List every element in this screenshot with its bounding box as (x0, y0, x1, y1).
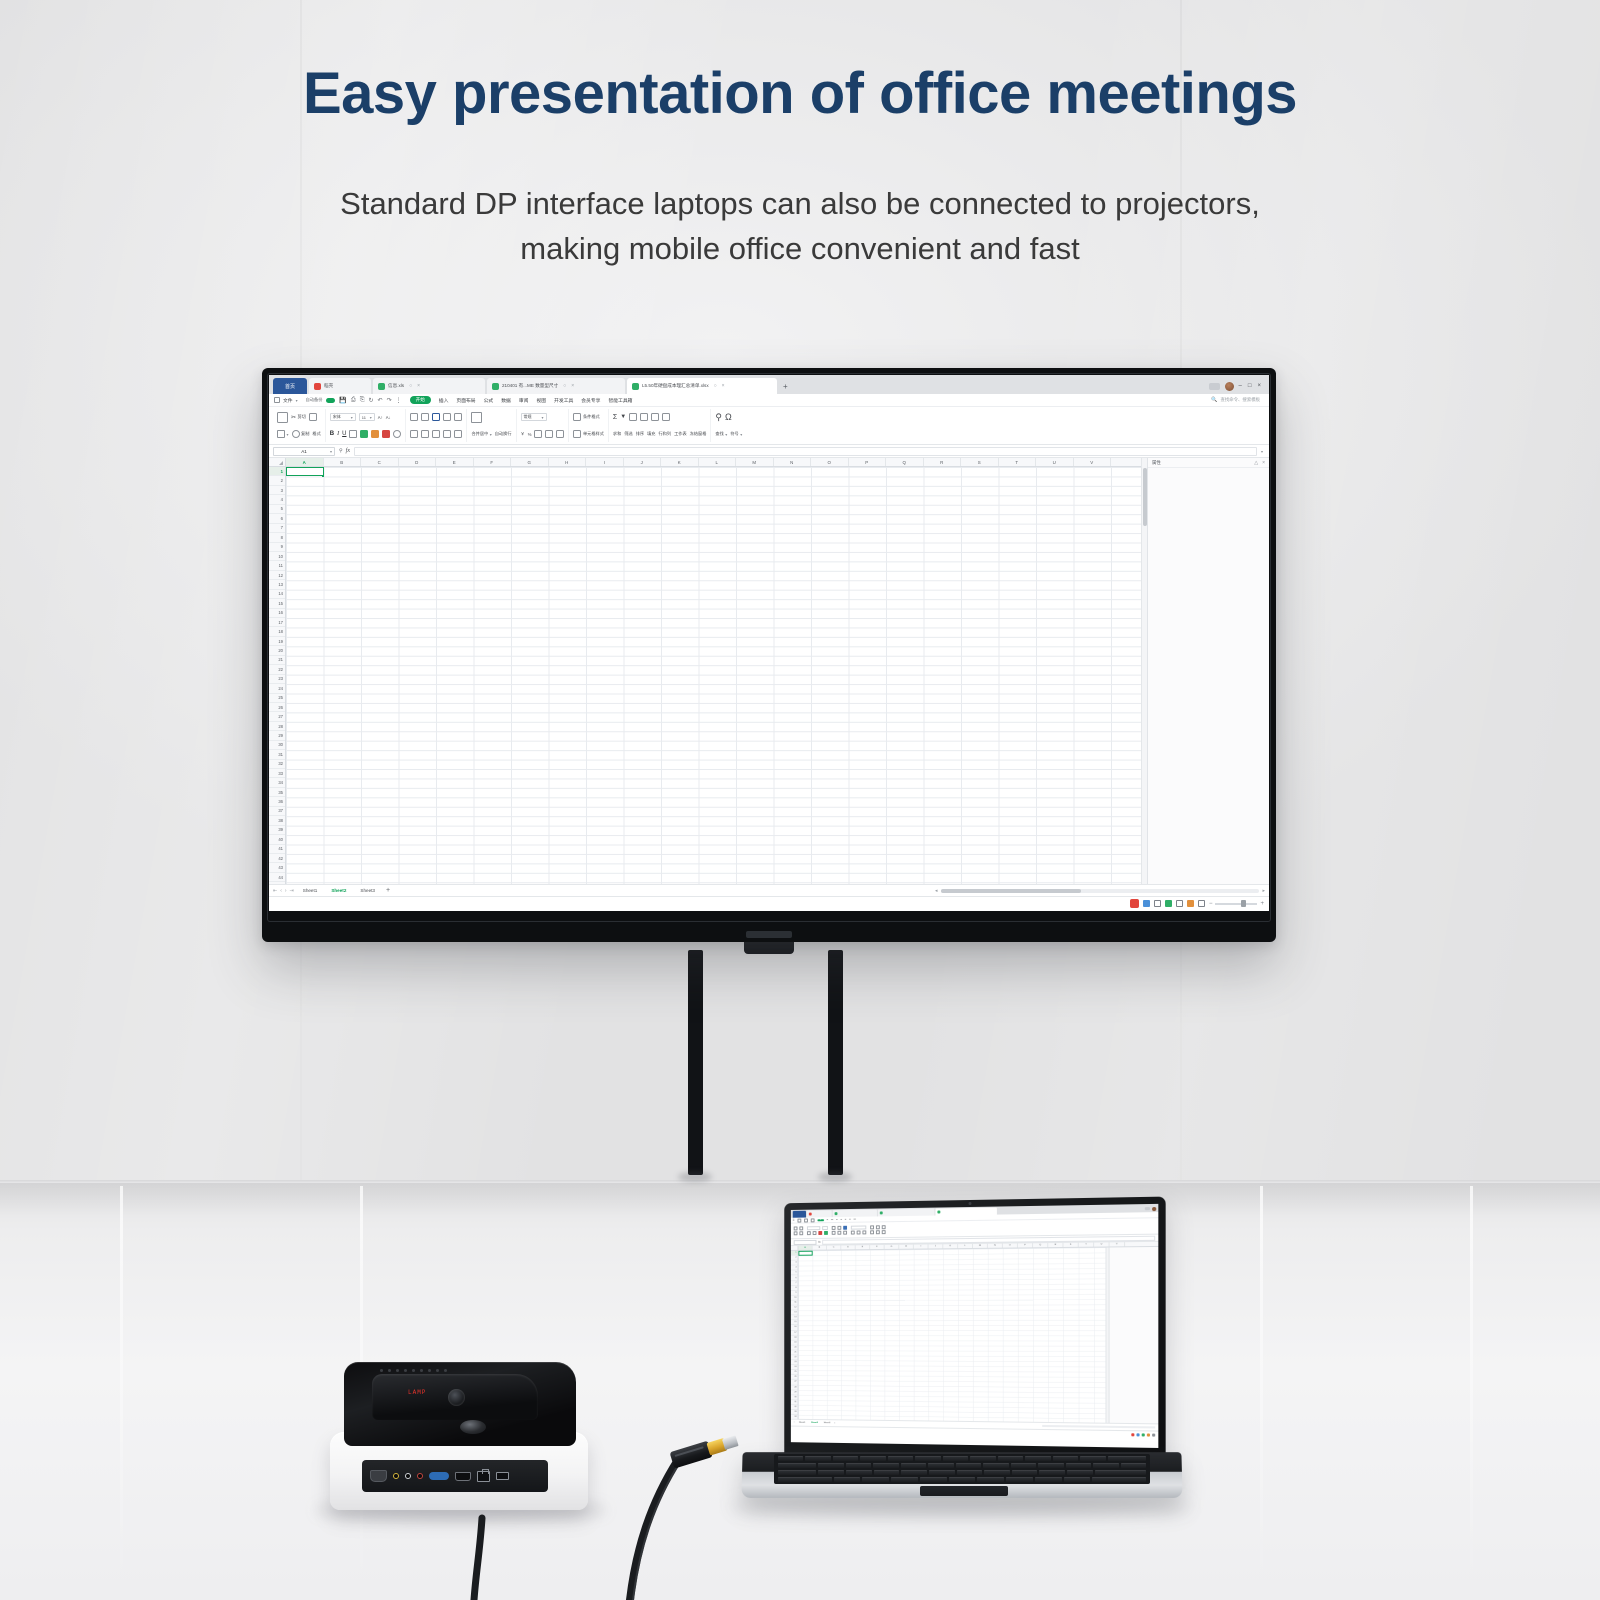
key[interactable] (1064, 1477, 1091, 1482)
row-header-17[interactable]: 17 (269, 618, 285, 627)
fill-color-icon[interactable] (360, 430, 368, 438)
ribbon-tab-formulas[interactable]: 公式 (484, 397, 494, 404)
indent-increase-icon[interactable] (454, 413, 462, 421)
undo-icon[interactable] (811, 1218, 815, 1222)
fill-label-item[interactable]: 填充 (647, 431, 655, 437)
align-right-icon[interactable] (432, 430, 440, 438)
reading-mode-icon[interactable] (1165, 900, 1172, 907)
row-header-18[interactable]: 18 (269, 627, 285, 636)
key[interactable] (1080, 1456, 1105, 1461)
ribbon-tab-page-layout[interactable]: 页面布局 (456, 397, 475, 404)
font-size-select[interactable]: 11 ▾ (359, 413, 375, 421)
pinyin-icon[interactable] (393, 430, 401, 438)
laptop-column-header-I[interactable]: I (914, 1244, 929, 1248)
undo-icon[interactable]: ↶ (378, 397, 383, 404)
key[interactable] (891, 1477, 918, 1482)
row-header-4[interactable]: 4 (269, 495, 285, 504)
laptop-horizontal-scrollbar[interactable] (1042, 1425, 1155, 1429)
key[interactable] (984, 1470, 1010, 1475)
percent-button[interactable]: % (528, 432, 532, 437)
normal-view-icon[interactable] (1143, 900, 1150, 907)
key[interactable] (915, 1456, 940, 1461)
sort-button[interactable] (629, 413, 637, 421)
key[interactable] (983, 1463, 1008, 1468)
print-icon[interactable]: ⎙ (351, 397, 356, 404)
laptop-file-menu[interactable]: ☰ (793, 1219, 795, 1222)
fullscreen-icon[interactable] (1187, 900, 1194, 907)
font-color-icon[interactable] (818, 1231, 822, 1235)
comment-icon[interactable] (1198, 900, 1205, 907)
reading-mode-icon[interactable] (1142, 1433, 1145, 1436)
close-window-icon[interactable]: × (1257, 383, 1261, 389)
horizontal-scrollbar[interactable] (941, 889, 1260, 893)
normal-view-icon[interactable] (1136, 1433, 1139, 1436)
sheet-tab-sheet2[interactable]: Sheet2 (326, 888, 351, 893)
key[interactable] (888, 1456, 913, 1461)
save-icon[interactable]: 💾 (339, 397, 346, 404)
column-header-I[interactable]: I (586, 458, 624, 466)
laptop-ribbon-tab-view[interactable]: ▪▪ (849, 1218, 851, 1220)
format-painter-button[interactable] (309, 413, 317, 421)
collapse-icon[interactable]: △ (1254, 460, 1258, 466)
paste-button[interactable] (277, 412, 288, 423)
laptop-document-tab-2[interactable] (878, 1209, 935, 1217)
laptop-column-header-A[interactable]: A (798, 1246, 812, 1250)
key[interactable] (873, 1463, 898, 1468)
zoom-knob[interactable] (1241, 900, 1246, 907)
vertical-scrollbar[interactable] (1141, 458, 1147, 884)
zoom-slider[interactable]: − + (1209, 901, 1264, 907)
select-all-corner[interactable] (269, 458, 286, 466)
key[interactable] (1067, 1470, 1093, 1475)
key[interactable] (860, 1456, 885, 1461)
laptop-ribbon-tab-developer[interactable]: ▪▪▪ (854, 1218, 856, 1220)
decrease-decimal-icon[interactable] (556, 430, 564, 438)
sheet-tab-sheet3[interactable]: Sheet3 (355, 888, 380, 893)
close-icon[interactable]: ○ (714, 383, 717, 389)
row-header-19[interactable]: 19 (269, 637, 285, 646)
laptop-column-header-R[interactable]: R (1048, 1243, 1063, 1247)
document-tab-3-active[interactable]: L5.50年硬盘成本理汇总清单.xlsx ○ × (627, 378, 777, 394)
key[interactable] (1035, 1477, 1062, 1482)
freeze-label-item[interactable]: 冻结窗格 (690, 431, 707, 437)
key[interactable] (778, 1463, 816, 1468)
align-top-icon[interactable] (832, 1226, 836, 1230)
row-header-37[interactable]: 37 (269, 807, 285, 816)
increase-font-button[interactable]: A↑ (378, 415, 383, 420)
laptop-row-header-34[interactable]: 34 (791, 1415, 798, 1420)
scrollbar-thumb[interactable] (941, 889, 1081, 893)
zoom-track[interactable] (1215, 903, 1257, 905)
column-header-S[interactable]: S (961, 458, 999, 466)
zoom-in-button[interactable]: + (1260, 901, 1264, 907)
row-header-20[interactable]: 20 (269, 646, 285, 655)
row-header-25[interactable]: 25 (269, 694, 285, 703)
selected-cell-a1[interactable] (286, 467, 324, 476)
laptop-document-tab-1[interactable] (833, 1210, 877, 1218)
print-icon[interactable] (804, 1218, 808, 1222)
laptop-grid-cells[interactable] (798, 1248, 1105, 1423)
laptop-column-header-B[interactable]: B (813, 1246, 827, 1250)
key[interactable] (846, 1470, 872, 1475)
laptop-ribbon-tab-review[interactable]: ▪▪ (845, 1218, 846, 1220)
fullscreen-icon[interactable] (1147, 1433, 1150, 1436)
filter-button[interactable]: ▼ (620, 414, 626, 420)
key[interactable] (818, 1470, 844, 1475)
laptop-column-header-D[interactable]: D (841, 1245, 855, 1249)
page-break-view-icon[interactable] (1154, 900, 1161, 907)
number-format-select[interactable] (851, 1225, 866, 1229)
fx-icon[interactable]: fx (818, 1240, 820, 1244)
sort-label-item[interactable]: 排序 (636, 431, 644, 437)
select-all-corner[interactable] (791, 1246, 799, 1250)
autosave-label[interactable]: 自动备份 (306, 397, 323, 403)
row-header-21[interactable]: 21 (269, 656, 285, 665)
ribbon-tab-review[interactable]: 审阅 (519, 397, 529, 404)
column-header-M[interactable]: M (736, 458, 774, 466)
key[interactable] (833, 1456, 858, 1461)
key[interactable] (957, 1470, 983, 1475)
align-center-icon[interactable] (421, 430, 429, 438)
row-header-11[interactable]: 11 (269, 561, 285, 570)
column-header-F[interactable]: F (474, 458, 512, 466)
key[interactable] (862, 1477, 889, 1482)
row-header-44[interactable]: 44 (269, 873, 285, 882)
close-icon[interactable]: × (417, 383, 420, 389)
freeze-panes-button[interactable] (662, 413, 670, 421)
key[interactable] (1038, 1463, 1063, 1468)
formula-input[interactable] (354, 447, 1257, 456)
row-header-36[interactable]: 36 (269, 797, 285, 806)
laptop-document-tab-3-active[interactable] (935, 1208, 996, 1216)
scroll-left-icon[interactable]: ◂ (935, 888, 938, 894)
laptop-ribbon-tab-insert[interactable]: ▪▪ (827, 1219, 828, 1221)
cell-format-button[interactable]: 格式 (312, 431, 320, 437)
document-tab-2[interactable]: 210401 有...ME 数量型尺寸 ○ × (487, 378, 625, 394)
row-header-8[interactable]: 8 (269, 533, 285, 542)
laptop-column-header-J[interactable]: J (929, 1244, 944, 1248)
key[interactable] (901, 1463, 926, 1468)
laptop-column-header-C[interactable]: C (827, 1245, 841, 1249)
align-left-icon[interactable] (832, 1231, 836, 1235)
key[interactable] (1095, 1470, 1146, 1475)
column-header-O[interactable]: O (811, 458, 849, 466)
row-header-38[interactable]: 38 (269, 816, 285, 825)
column-header-K[interactable]: K (661, 458, 699, 466)
laptop-ribbon-tab-data[interactable]: ▪▪ (841, 1218, 842, 1220)
row-header-42[interactable]: 42 (269, 854, 285, 863)
row-header-9[interactable]: 9 (269, 543, 285, 552)
percent-icon[interactable] (857, 1230, 861, 1234)
laptop-keyboard[interactable] (774, 1454, 1150, 1484)
row-header-7[interactable]: 7 (269, 524, 285, 533)
row-header-31[interactable]: 31 (269, 750, 285, 759)
column-header-N[interactable]: N (774, 458, 812, 466)
laptop-tab-home[interactable] (793, 1211, 806, 1218)
laptop-column-header-L[interactable]: L (958, 1244, 973, 1248)
print-preview-icon[interactable]: ⎘ (360, 397, 365, 404)
document-tab-docer[interactable]: 稻壳 (309, 378, 371, 394)
align-right-icon[interactable] (843, 1231, 847, 1235)
row-header-28[interactable]: 28 (269, 722, 285, 731)
key[interactable] (1006, 1477, 1033, 1482)
close-icon[interactable]: × (571, 383, 574, 389)
rows-columns-icon[interactable] (870, 1230, 874, 1234)
justify-icon[interactable] (443, 430, 451, 438)
autosave-toggle[interactable] (326, 398, 335, 403)
new-tab-button[interactable]: + (779, 382, 792, 391)
font-name-select[interactable]: 宋体 ▾ (330, 413, 356, 421)
zoom-knob[interactable] (1152, 1433, 1155, 1436)
sum-icon[interactable] (870, 1225, 874, 1229)
key[interactable] (1121, 1463, 1146, 1468)
fill-color-icon[interactable] (824, 1231, 828, 1235)
align-left-icon[interactable] (410, 430, 418, 438)
number-format-select[interactable]: 常规 ▾ (521, 413, 547, 421)
laptop-column-header-E[interactable]: E (856, 1245, 870, 1249)
scrollbar-thumb[interactable] (1143, 468, 1147, 526)
key[interactable] (956, 1463, 981, 1468)
italic-icon[interactable] (813, 1231, 817, 1235)
rows-columns-label-item[interactable]: 行和列 (658, 431, 671, 437)
column-header-C[interactable]: C (361, 458, 399, 466)
key[interactable] (778, 1477, 832, 1482)
ribbon-search-box[interactable]: 🔍 查找命令、搜索模板 (1211, 397, 1264, 403)
wrap-text-button[interactable]: 自动换行 (495, 431, 512, 437)
close-icon[interactable]: × (722, 383, 725, 389)
key[interactable] (929, 1470, 955, 1475)
row-header-30[interactable]: 30 (269, 741, 285, 750)
key[interactable] (949, 1477, 976, 1482)
paste-icon[interactable] (794, 1226, 798, 1230)
row-header-24[interactable]: 24 (269, 684, 285, 693)
worksheet-icon[interactable] (876, 1230, 880, 1234)
key[interactable] (977, 1477, 1004, 1482)
column-header-B[interactable]: B (324, 458, 362, 466)
fx-icon[interactable]: fx (346, 448, 350, 454)
key[interactable] (778, 1470, 816, 1475)
laptop-document-tab-docer[interactable] (807, 1210, 832, 1217)
comma-style-icon[interactable] (534, 430, 542, 438)
tab-home[interactable]: 首页 (273, 378, 307, 394)
file-menu-button[interactable]: 文件 ▾ (274, 397, 298, 404)
row-header-12[interactable]: 12 (269, 571, 285, 580)
row-header-14[interactable]: 14 (269, 590, 285, 599)
expand-formula-bar-icon[interactable]: ▾ (1261, 449, 1263, 454)
minimize-icon[interactable]: – (1239, 383, 1242, 389)
column-header-H[interactable]: H (549, 458, 587, 466)
rows-columns-button[interactable] (640, 413, 648, 421)
page-layout-view-icon[interactable] (1176, 900, 1183, 907)
row-header-26[interactable]: 26 (269, 703, 285, 712)
align-middle-icon[interactable] (421, 413, 429, 421)
column-header-R[interactable]: R (924, 458, 962, 466)
row-header-13[interactable]: 13 (269, 580, 285, 589)
row-header-39[interactable]: 39 (269, 826, 285, 835)
row-header-27[interactable]: 27 (269, 712, 285, 721)
add-sheet-button[interactable]: + (384, 887, 390, 894)
key[interactable] (874, 1470, 900, 1475)
key[interactable] (943, 1456, 968, 1461)
save-icon[interactable] (797, 1218, 801, 1222)
row-header-22[interactable]: 22 (269, 665, 285, 674)
cut-icon[interactable] (799, 1226, 803, 1230)
align-top-icon[interactable] (410, 413, 418, 421)
italic-button[interactable]: I (337, 431, 339, 437)
underline-button[interactable]: U (342, 431, 346, 437)
laptop-name-box[interactable] (794, 1239, 817, 1244)
vip-badge-icon[interactable] (1209, 383, 1220, 390)
column-header-U[interactable]: U (1036, 458, 1074, 466)
key[interactable] (1066, 1463, 1091, 1468)
key[interactable] (1093, 1463, 1118, 1468)
paste-dropdown[interactable]: ▾ (277, 430, 289, 438)
row-header-1[interactable]: 1 (269, 467, 285, 476)
row-header-16[interactable]: 16 (269, 609, 285, 618)
sheet-tab-sheet1[interactable]: Sheet1 (298, 888, 323, 893)
find-button[interactable]: 查找 ▾ (715, 431, 727, 437)
ribbon-tab-view[interactable]: 视图 (536, 397, 546, 404)
ribbon-tab-insert[interactable]: 插入 (439, 397, 449, 404)
sort-icon[interactable] (882, 1225, 886, 1229)
column-header-J[interactable]: J (624, 458, 662, 466)
row-header-2[interactable]: 2 (269, 476, 285, 485)
freeze-icon[interactable] (882, 1230, 886, 1234)
increase-decimal-icon[interactable] (545, 430, 553, 438)
ribbon-tab-data[interactable]: 数据 (501, 397, 511, 404)
filter-label-item[interactable]: 筛选 (624, 431, 632, 437)
zoom-out-button[interactable]: − (1209, 901, 1213, 907)
key[interactable] (928, 1463, 953, 1468)
document-tab-1[interactable]: 信息.xls ○ × (373, 378, 485, 394)
search-icon[interactable]: ⚲ (339, 448, 343, 454)
close-icon[interactable]: × (1262, 460, 1265, 466)
laptop-sheet-tab-1[interactable]: Sheet1 (797, 1422, 807, 1424)
copy-button[interactable]: 复制 (292, 430, 310, 438)
close-icon[interactable]: ○ (409, 383, 412, 389)
laptop-add-sheet-button[interactable]: + (834, 1422, 835, 1424)
bold-icon[interactable] (807, 1231, 811, 1235)
search-icon[interactable]: ⚲ (715, 412, 722, 423)
scroll-right-icon[interactable]: ▸ (1262, 888, 1265, 894)
column-header-P[interactable]: P (849, 458, 887, 466)
merge-center-button[interactable]: 合并居中 ▾ (471, 431, 491, 437)
comma-icon[interactable] (862, 1230, 866, 1234)
laptop-column-header-K[interactable]: K (943, 1244, 958, 1248)
key[interactable] (846, 1463, 871, 1468)
laptop-column-header-F[interactable]: F (870, 1245, 885, 1249)
laptop-column-header-S[interactable]: S (1063, 1243, 1078, 1247)
key[interactable] (834, 1477, 861, 1482)
laptop-ribbon-tab-start[interactable]: ▪ (817, 1219, 823, 1221)
next-sheet-icon[interactable]: › (285, 888, 287, 894)
row-header-34[interactable]: 34 (269, 778, 285, 787)
row-header-6[interactable]: 6 (269, 514, 285, 523)
laptop-column-header-U[interactable]: U (1094, 1242, 1109, 1246)
autosum-button[interactable]: Σ (613, 414, 617, 421)
key[interactable] (1039, 1470, 1065, 1475)
name-box[interactable]: A1 ▾ (273, 447, 335, 456)
laptop-column-header-G[interactable]: G (885, 1245, 900, 1249)
currency-icon[interactable] (851, 1231, 855, 1235)
align-bottom-icon[interactable] (843, 1226, 847, 1230)
avatar[interactable] (1152, 1206, 1156, 1210)
row-header-29[interactable]: 29 (269, 731, 285, 740)
prev-sheet-icon[interactable]: ‹ (280, 888, 282, 894)
ribbon-tab-developer[interactable]: 开发工具 (554, 397, 573, 404)
laptop-ribbon-tab-page-layout[interactable]: ▪▪▪ (831, 1219, 833, 1221)
laptop-sheet-tab-2[interactable]: Sheet2 (809, 1422, 820, 1424)
rotate-text-icon[interactable] (443, 413, 451, 421)
copy-icon[interactable] (794, 1231, 798, 1235)
grid-cells[interactable] (286, 467, 1141, 884)
laptop-column-header-M[interactable]: M (973, 1244, 988, 1248)
decrease-font-button[interactable]: A↓ (386, 415, 391, 420)
currency-button[interactable]: ￥ (521, 431, 525, 437)
row-header-10[interactable]: 10 (269, 552, 285, 561)
worksheet-grid[interactable]: ABCDEFGHIJKLMNOPQRSTUV 12345678910111213… (269, 458, 1141, 884)
laptop-selected-cell[interactable] (798, 1251, 812, 1256)
laptop-column-header-H[interactable]: H (899, 1245, 914, 1249)
align-bottom-icon[interactable] (432, 413, 440, 421)
column-header-L[interactable]: L (699, 458, 737, 466)
last-sheet-icon[interactable]: ⇥ (290, 888, 294, 894)
key[interactable] (1092, 1477, 1146, 1482)
key[interactable] (920, 1477, 947, 1482)
column-header-T[interactable]: T (999, 458, 1037, 466)
cut-button[interactable]: ✂ 剪切 (291, 414, 306, 421)
ribbon-tab-start[interactable]: 开始 (410, 396, 431, 404)
wrap-text-icon[interactable] (454, 430, 462, 438)
laptop-column-header-Q[interactable]: Q (1033, 1243, 1048, 1247)
more-commands-icon[interactable]: ⋮ (396, 397, 402, 404)
key[interactable] (970, 1456, 995, 1461)
row-header-33[interactable]: 33 (269, 769, 285, 778)
row-header-3[interactable]: 3 (269, 486, 285, 495)
key[interactable] (1108, 1456, 1146, 1461)
laptop-column-header-P[interactable]: P (1018, 1243, 1033, 1247)
sheet-nav-icons[interactable]: ‹› (794, 1422, 795, 1424)
font-name-select[interactable] (807, 1226, 820, 1230)
row-header-32[interactable]: 32 (269, 760, 285, 769)
column-header-A[interactable]: A (286, 458, 324, 466)
maximize-icon[interactable]: □ (1248, 383, 1252, 389)
column-header-Q[interactable]: Q (886, 458, 924, 466)
bold-button[interactable]: B (330, 431, 334, 437)
laptop-trackpad[interactable] (920, 1486, 1008, 1496)
symbol-button[interactable]: 符号 ▾ (730, 431, 742, 437)
filter-icon[interactable] (876, 1225, 880, 1229)
column-header-E[interactable]: E (436, 458, 474, 466)
align-middle-icon[interactable] (837, 1226, 841, 1230)
row-header-15[interactable]: 15 (269, 599, 285, 608)
worksheet-label-item[interactable]: 工作表 (674, 431, 687, 437)
laptop-column-header-V[interactable]: V (1110, 1242, 1125, 1246)
laptop-sheet-tab-3[interactable]: Sheet3 (822, 1422, 832, 1424)
laptop-column-header-N[interactable]: N (988, 1244, 1003, 1248)
key[interactable] (818, 1463, 843, 1468)
laptop-column-header-O[interactable]: O (1003, 1243, 1018, 1247)
key[interactable] (1053, 1456, 1078, 1461)
symbol-icon[interactable]: Ω (725, 412, 732, 422)
key[interactable] (778, 1456, 803, 1461)
key[interactable] (805, 1456, 830, 1461)
refresh-icon[interactable]: ↻ (369, 397, 374, 404)
first-sheet-icon[interactable]: ⇤ (273, 888, 277, 894)
close-icon[interactable]: ○ (563, 383, 566, 389)
row-header-35[interactable]: 35 (269, 788, 285, 797)
worksheet-button[interactable] (651, 413, 659, 421)
